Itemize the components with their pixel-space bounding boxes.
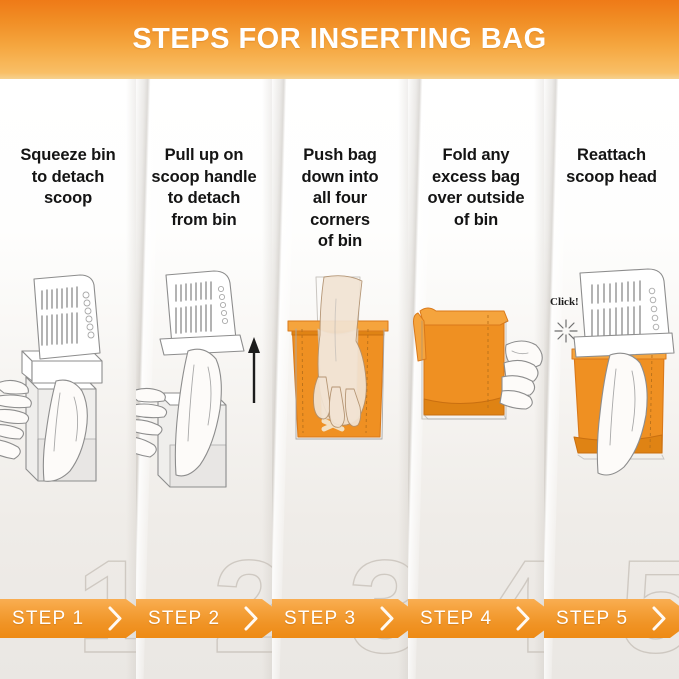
steps-container: Squeeze bin to detach scoop	[0, 79, 679, 679]
caption-line: of bin	[276, 231, 404, 253]
step-banner-3[interactable]: STEP 3	[272, 599, 408, 638]
click-label: Click!	[550, 296, 579, 308]
header-banner: STEPS FOR INSERTING BAG	[0, 0, 679, 79]
caption-line: Squeeze bin	[4, 145, 132, 167]
step-panel-2: Pull up on scoop handle to detach from b…	[136, 79, 272, 679]
caption-line: Reattach	[548, 145, 675, 167]
step-banner-1[interactable]: STEP 1	[0, 599, 136, 638]
step-caption-2: Pull up on scoop handle to detach from b…	[140, 145, 268, 231]
step-caption-3: Push bag down into all four corners of b…	[276, 145, 404, 253]
caption-line: excess bag	[412, 167, 540, 189]
step-banner-4[interactable]: STEP 4	[408, 599, 544, 638]
step-illustration-2	[136, 269, 272, 499]
step-panel-1: Squeeze bin to detach scoop	[0, 79, 136, 679]
caption-line: Push bag	[276, 145, 404, 167]
step-illustration-1	[0, 269, 136, 499]
chevron-right-icon	[652, 606, 666, 631]
step-banner-label-1: STEP 1	[0, 608, 84, 630]
click-annotation: Click!	[550, 296, 579, 342]
chevron-right-icon	[108, 606, 122, 631]
step-panel-4: Fold any excess bag over outside of bin	[408, 79, 544, 679]
step-banner-label-2: STEP 2	[136, 608, 220, 630]
caption-line: to detach	[4, 167, 132, 189]
up-arrow-icon	[248, 337, 260, 403]
step-caption-1: Squeeze bin to detach scoop	[4, 145, 132, 210]
step-illustration-5: Click!	[544, 269, 679, 499]
step-banner-label-5: STEP 5	[544, 608, 628, 630]
step-banner-label-3: STEP 3	[272, 608, 356, 630]
caption-line: corners	[276, 210, 404, 232]
caption-line: scoop	[4, 188, 132, 210]
caption-line: from bin	[140, 210, 268, 232]
step-banner-2[interactable]: STEP 2	[136, 599, 272, 638]
chevron-right-icon	[516, 606, 530, 631]
step-banner-5[interactable]: STEP 5	[544, 599, 679, 638]
caption-line: scoop handle	[140, 167, 268, 189]
step-panel-3: Push bag down into all four corners of b…	[272, 79, 408, 679]
caption-line: scoop head	[548, 167, 675, 189]
caption-line: all four	[276, 188, 404, 210]
step-caption-5: Reattach scoop head	[548, 145, 675, 188]
step-caption-4: Fold any excess bag over outside of bin	[412, 145, 540, 231]
caption-line: to detach	[140, 188, 268, 210]
step-panel-5: Reattach scoop head	[544, 79, 679, 679]
caption-line: over outside	[412, 188, 540, 210]
caption-line: of bin	[412, 210, 540, 232]
caption-line: down into	[276, 167, 404, 189]
caption-line: Fold any	[412, 145, 540, 167]
step-banner-label-4: STEP 4	[408, 608, 492, 630]
chevron-right-icon	[244, 606, 258, 631]
starburst-icon	[555, 320, 577, 342]
infographic-page: STEPS FOR INSERTING BAG Squeeze bin to d…	[0, 0, 679, 679]
page-title: STEPS FOR INSERTING BAG	[0, 0, 679, 79]
step-illustration-3	[272, 269, 408, 499]
chevron-right-icon	[380, 606, 394, 631]
step-illustration-4	[408, 269, 544, 499]
caption-line: Pull up on	[140, 145, 268, 167]
